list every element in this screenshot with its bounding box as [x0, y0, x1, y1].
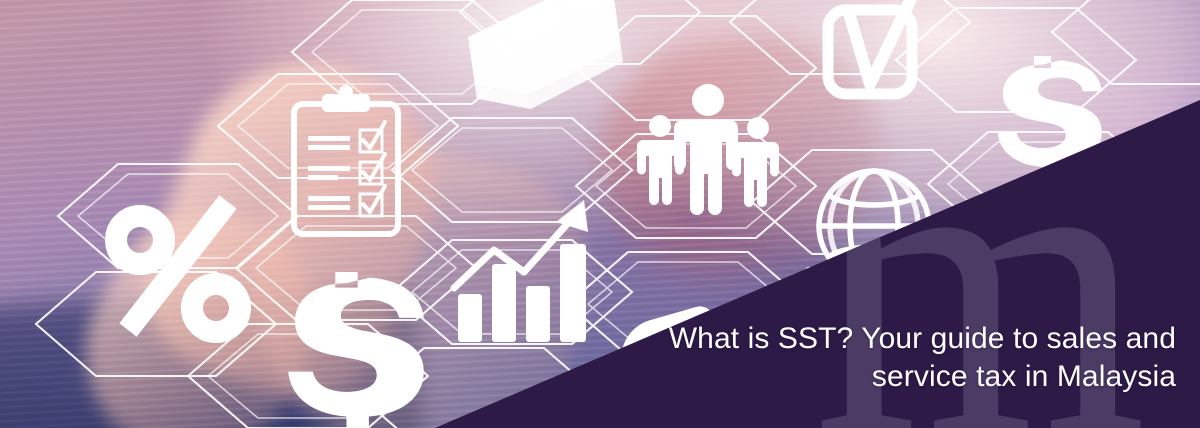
percent-icon: [116, 202, 240, 332]
globe-icon: [819, 171, 929, 281]
checkbox-tick-icon: [828, 0, 922, 94]
sst-banner: m What is SST? Your guide to sales and s…: [0, 0, 1200, 428]
dollar-sign-icon-main: [288, 272, 424, 428]
family-people-icon: [637, 84, 779, 215]
dollar-sign-icon-top: [998, 56, 1102, 179]
book-icon: [464, 0, 628, 116]
headline: What is SST? Your guide to sales and ser…: [476, 320, 1176, 397]
clipboard-checklist-icon: [294, 85, 398, 234]
headline-line-2: service tax in Malaysia: [476, 358, 1176, 396]
headline-line-1: What is SST? Your guide to sales and: [476, 320, 1176, 358]
